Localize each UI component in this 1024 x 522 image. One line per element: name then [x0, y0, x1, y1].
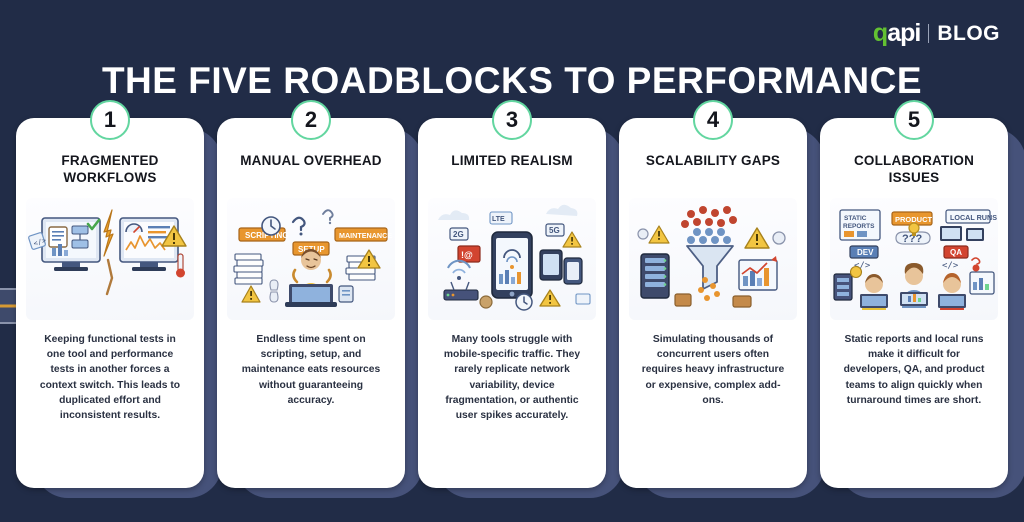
svg-text:5G: 5G: [549, 226, 560, 235]
roadblock-slot-3: 3 LIMITED REALISM 2G 5G LTE: [418, 118, 606, 498]
roadblock-slot-5: 5 COLLABORATION ISSUES STATIC REPORTS PR…: [820, 118, 1008, 498]
logo-text-rest: api: [887, 19, 920, 47]
scalability-gaps-illustration: [629, 198, 797, 320]
svg-text:LTE: LTE: [492, 216, 505, 223]
brand-divider: [928, 24, 929, 43]
svg-text:QA: QA: [950, 248, 962, 257]
roadblock-card-5[interactable]: 5 COLLABORATION ISSUES STATIC REPORTS PR…: [820, 118, 1008, 488]
roadblock-title-4: SCALABILITY GAPS: [642, 152, 784, 188]
roadblock-card-2[interactable]: 2 MANUAL OVERHEAD SCRIPTING SETUP MAINTE…: [217, 118, 405, 488]
roadblock-title-1: FRAGMENTED WORKFLOWS: [26, 152, 194, 188]
roadblock-body-4: Simulating thousands of concurrent users…: [629, 332, 797, 408]
roadblock-title-2: MANUAL OVERHEAD: [236, 152, 386, 188]
road-dash: [0, 305, 16, 308]
limited-realism-illustration: 2G 5G LTE !@: [428, 198, 596, 320]
roadblock-body-1: Keeping functional tests in one tool and…: [26, 332, 194, 423]
svg-text:REPORTS: REPORTS: [843, 223, 875, 230]
svg-text:2G: 2G: [453, 230, 464, 239]
svg-text:</>: </>: [942, 261, 959, 271]
roadblock-title-5: COLLABORATION ISSUES: [830, 152, 998, 188]
roadblock-slot-1: 1 FRAGMENTED WORKFLOWS: [16, 118, 204, 498]
svg-text:DEV: DEV: [857, 248, 874, 257]
svg-text:!@: !@: [461, 250, 473, 260]
blog-label[interactable]: BLOG: [937, 23, 1000, 44]
roadblock-number-badge-3: 3: [492, 100, 532, 140]
roadblock-slot-4: 4 SCALABILITY GAPS: [619, 118, 807, 498]
roadblock-title-3: LIMITED REALISM: [447, 152, 577, 188]
roadblock-number-badge-5: 5: [894, 100, 934, 140]
roadblock-body-5: Static reports and local runs make it di…: [830, 332, 998, 408]
svg-text:STATIC: STATIC: [844, 215, 867, 222]
roadblock-body-3: Many tools struggle with mobile-specific…: [428, 332, 596, 423]
roadblock-body-2: Endless time spent on scripting, setup, …: [227, 332, 395, 408]
svg-text:LOCAL RUNS: LOCAL RUNS: [950, 213, 997, 222]
collaboration-issues-illustration: STATIC REPORTS PRODUCT LOCAL RUNS ??? DE…: [830, 198, 998, 320]
svg-text:MAINTENANCE: MAINTENANCE: [339, 231, 392, 240]
page-title: THE FIVE ROADBLOCKS TO PERFORMANCE: [0, 60, 1024, 102]
infographic-canvas: qapi BLOG THE FIVE ROADBLOCKS TO PERFORM…: [0, 0, 1024, 522]
roadblock-slot-2: 2 MANUAL OVERHEAD SCRIPTING SETUP MAINTE…: [217, 118, 405, 498]
roadblock-card-3[interactable]: 3 LIMITED REALISM 2G 5G LTE: [418, 118, 606, 488]
roadblock-number-badge-2: 2: [291, 100, 331, 140]
qapi-logo[interactable]: qapi: [873, 21, 920, 46]
roadblock-card-row: 1 FRAGMENTED WORKFLOWS: [16, 118, 1008, 498]
brand-lockup[interactable]: qapi BLOG: [873, 20, 1000, 46]
roadblock-card-1[interactable]: 1 FRAGMENTED WORKFLOWS: [16, 118, 204, 488]
manual-overhead-illustration: SCRIPTING SETUP MAINTENANCE: [227, 198, 395, 320]
roadblock-number-badge-4: 4: [693, 100, 733, 140]
logo-accent-letter: q: [873, 19, 887, 47]
roadblock-card-4[interactable]: 4 SCALABILITY GAPS: [619, 118, 807, 488]
fragmented-workflows-illustration: </>: [26, 198, 194, 320]
roadblock-number-badge-1: 1: [90, 100, 130, 140]
